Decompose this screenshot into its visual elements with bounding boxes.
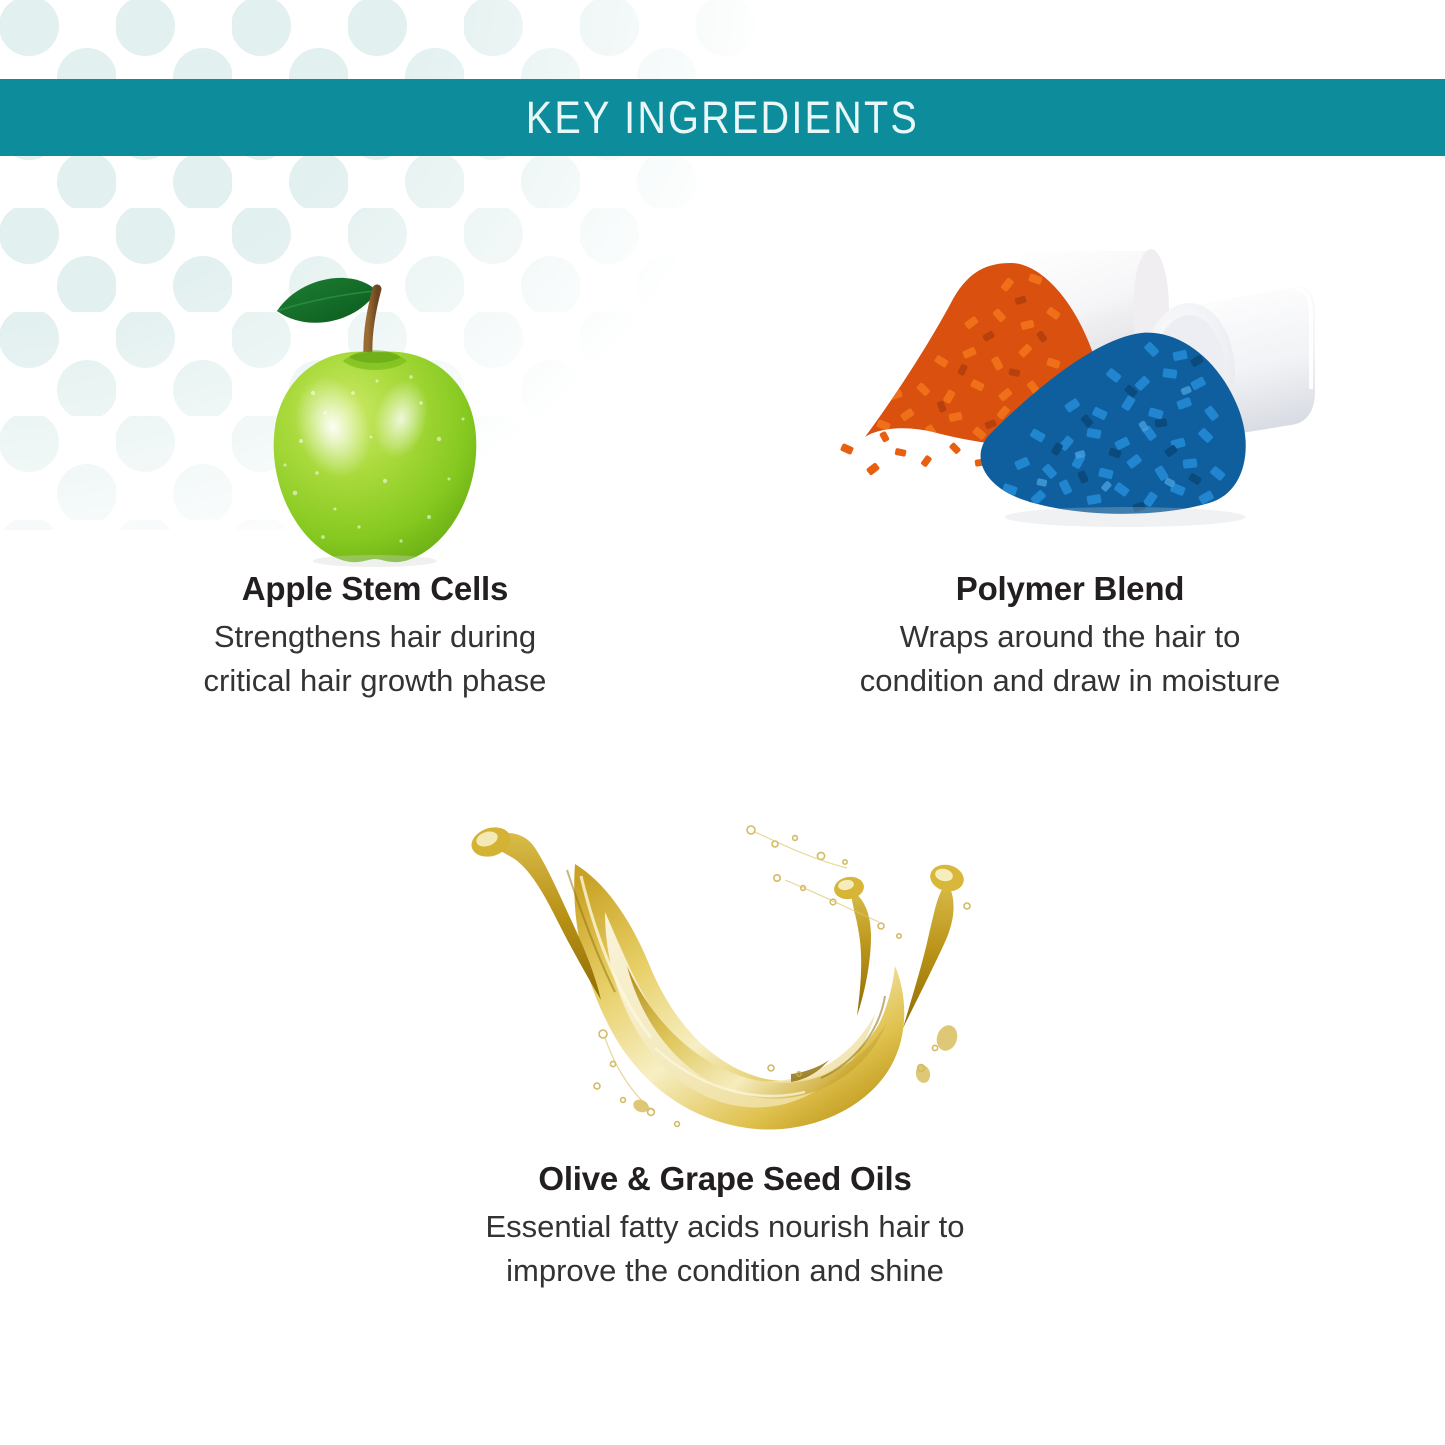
- ingredient-description-line-2: critical hair growth phase: [204, 663, 547, 698]
- ingredient-card-polymer-blend: Polymer Blend Wraps around the hair to c…: [720, 241, 1420, 703]
- header-band: KEY INGREDIENTS: [0, 79, 1445, 156]
- ingredient-title: Polymer Blend: [720, 571, 1420, 607]
- ingredient-title: Olive & Grape Seed Oils: [370, 1161, 1080, 1197]
- ingredient-description-line-1: Wraps around the hair to: [900, 619, 1241, 654]
- ingredients-grid: Apple Stem Cells Strengthens hair during…: [0, 156, 1445, 1445]
- green-apple-image: [30, 241, 720, 571]
- ingredient-card-apple-stem-cells: Apple Stem Cells Strengthens hair during…: [30, 241, 720, 703]
- ingredient-description-line-2: condition and draw in moisture: [860, 663, 1280, 698]
- ingredient-description-line-1: Strengthens hair during: [214, 619, 536, 654]
- ingredient-title: Apple Stem Cells: [30, 571, 720, 607]
- oil-splash-image: [370, 816, 1080, 1161]
- ingredient-description-line-1: Essential fatty acids nourish hair to: [485, 1209, 964, 1244]
- ingredient-description: Wraps around the hair to condition and d…: [720, 615, 1420, 703]
- ingredient-description-line-2: improve the condition and shine: [506, 1253, 944, 1288]
- key-ingredients-infographic: KEY INGREDIENTS: [0, 0, 1445, 1445]
- ingredient-card-olive-grape-seed-oils: Olive & Grape Seed Oils Essential fatty …: [370, 816, 1080, 1293]
- ingredient-description: Essential fatty acids nourish hair to im…: [370, 1205, 1080, 1293]
- ingredient-description: Strengthens hair during critical hair gr…: [30, 615, 720, 703]
- page-title: KEY INGREDIENTS: [526, 92, 919, 144]
- polymer-pellets-image: [720, 241, 1420, 571]
